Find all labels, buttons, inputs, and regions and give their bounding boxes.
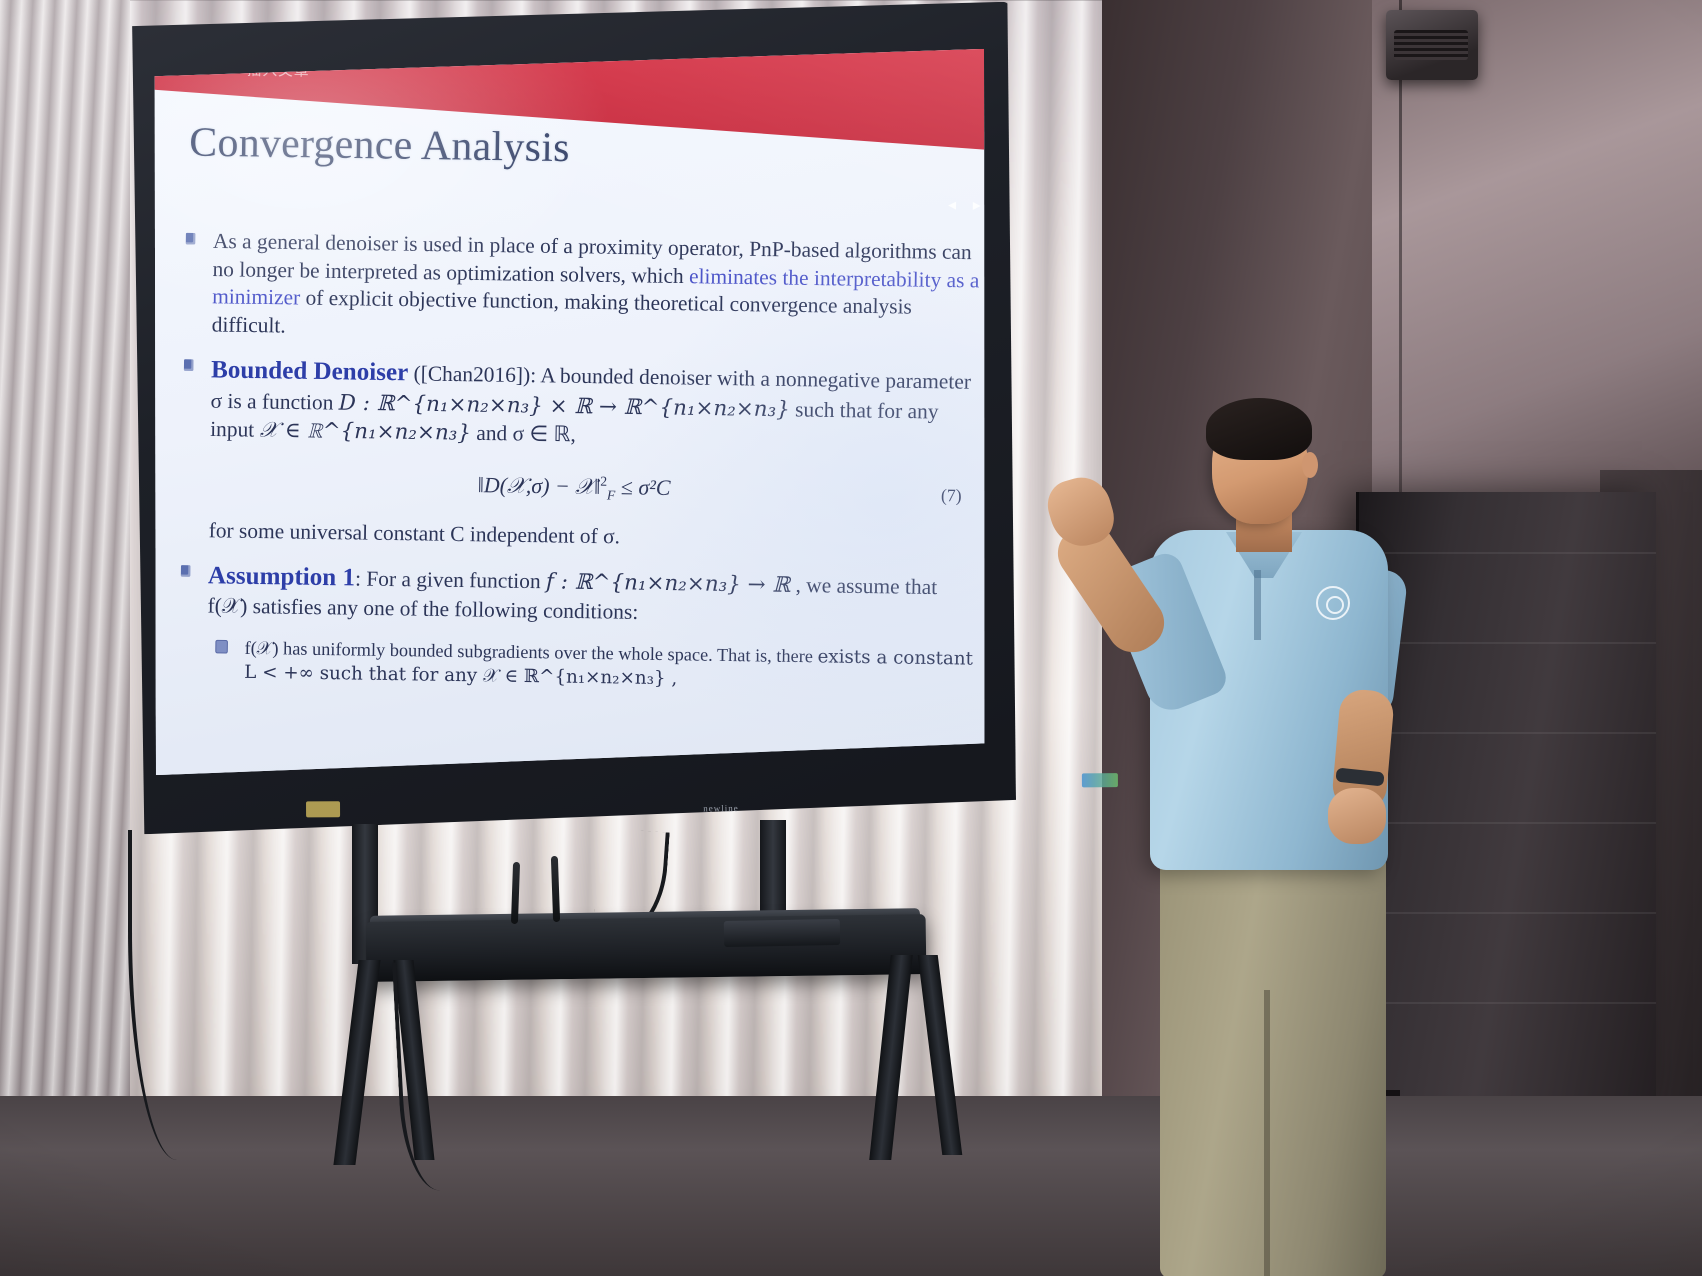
presenter-placket [1254,570,1261,640]
interactive-display[interactable]: ▸ newline ✓ 插入文章 ◂ ▸ Convergence Analysi… [126,2,1016,835]
prev-slide-icon[interactable]: ◂ [948,195,956,214]
slide-navigation[interactable]: ◂ ▸ [948,195,981,214]
slide-body: As a general denoiser is used in place o… [169,227,980,696]
equation-lhs: ‖D(𝒳,σ) − 𝒳‖ [477,472,600,499]
bounded-denoiser-mapping: D : ℝ^{n₁×n₂×n₃} × ℝ → ℝ^{n₁×n₂×n₃} [339,390,790,422]
floor [0,1096,1702,1276]
curtain-left-panel [0,0,130,1276]
sub-bullet-subgradients: f(𝒳) has uniformly bounded subgradients … [169,635,974,697]
shirt-logo-icon [1316,586,1350,620]
bullet-1-seg-3: of explicit objective function, making t… [212,287,912,338]
display-screen[interactable]: ✓ 插入文章 ◂ ▸ Convergence Analysis As a gen… [152,49,988,775]
presenter-right-hand [1328,788,1386,844]
bounded-denoiser-heading: Bounded Denoiser [211,356,409,386]
bullet-marker-icon [184,359,194,371]
display-sticker [306,801,340,817]
after-equation-text: for some universal constant C independen… [171,517,976,557]
presenter [1030,390,1430,1276]
sub-bullet-line-1: f(𝒳) has uniformly bounded subgradients … [244,637,813,666]
bullet-assumption-1: Assumption 1: For a given function f : ℝ… [170,559,975,631]
next-slide-icon[interactable]: ▸ [973,195,981,214]
bullet-marker-icon [181,565,191,577]
bullet-marker-icon [186,233,196,245]
bounded-denoiser-input-domain: 𝒳 ∈ ℝ^{n₁×n₂×n₃} [259,417,471,445]
display-brand-label: newline [686,803,756,815]
presenter-pants [1160,842,1386,1276]
control-panel[interactable] [724,919,840,947]
slide-surface: ✓ 插入文章 ◂ ▸ Convergence Analysis As a gen… [152,49,988,775]
assumption-heading: Assumption 1 [208,562,355,591]
presenter-ear [1302,452,1318,478]
bullet-bounded-denoiser: Bounded Denoiser ([Chan2016]): A bounded… [172,353,978,455]
bounded-denoiser-text-3: and σ ∈ ℝ, [471,422,576,447]
equation-norm-sub: F [607,487,616,503]
bullet-general-denoiser: As a general denoiser is used in place o… [174,227,980,350]
pant-seam [1264,990,1270,1276]
equation-7: ‖D(𝒳,σ) − 𝒳‖2F ≤ σ²C (7) [172,467,977,510]
presenter-hair [1206,398,1312,460]
equation-rhs: σ²C [638,475,670,501]
sub-bullet-marker-icon [215,639,228,653]
equation-number: (7) [941,484,962,507]
assumption-mapping: f : ℝ^{n₁×n₂×n₃} → ℝ [546,568,791,597]
assumption-text-1: : For a given function [355,567,546,593]
slide-title: Convergence Analysis [189,117,570,172]
equation-relation: ≤ [621,474,633,499]
bounded-denoiser-citation: ([Chan2016]) [413,362,530,387]
ceiling-speaker-icon [1386,10,1478,80]
presentation-scene: ▸ newline ✓ 插入文章 ◂ ▸ Convergence Analysi… [0,0,1702,1276]
